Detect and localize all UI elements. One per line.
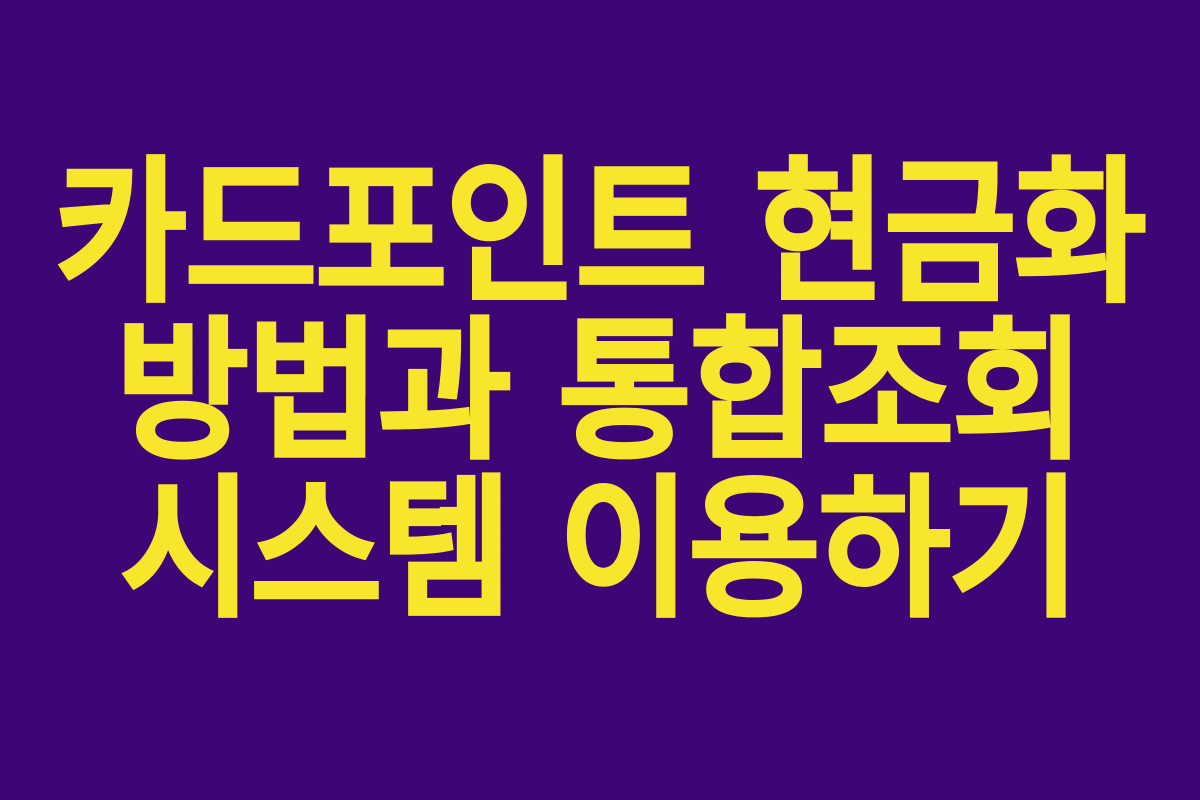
thumbnail-banner: 카드포인트 현금화 방법과 통합조회 시스템 이용하기	[0, 0, 1200, 800]
banner-title-line-2: 방법과 통합조회	[116, 317, 1084, 467]
banner-title-line-1: 카드포인트 현금화	[55, 156, 1145, 310]
banner-title-line-3: 시스템 이용하기	[121, 475, 1079, 625]
banner-title-block: 카드포인트 현금화 방법과 통합조회 시스템 이용하기	[0, 156, 1200, 625]
